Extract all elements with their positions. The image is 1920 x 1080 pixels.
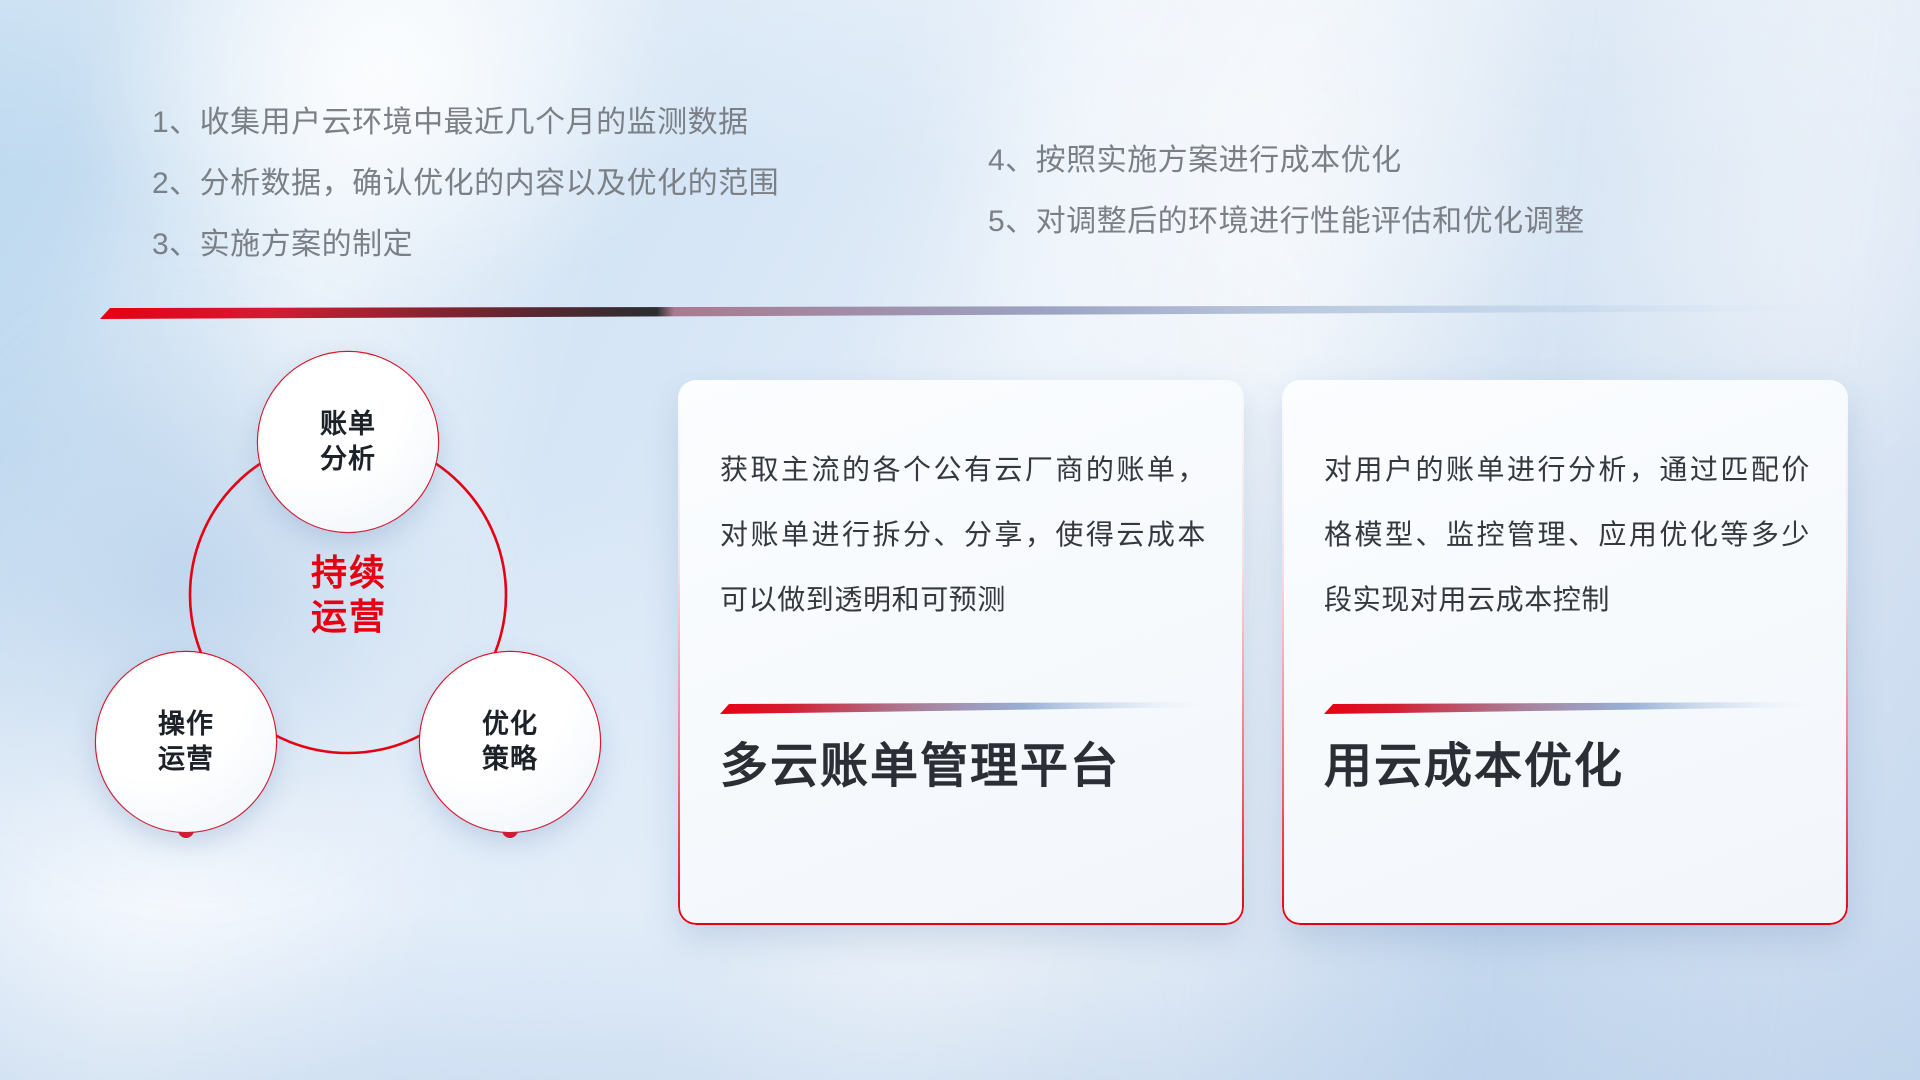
process-steps: 1、收集用户云环境中最近几个月的监测数据 2、分析数据，确认优化的内容以及优化的… (0, 108, 1920, 298)
venn-center-label-line2: 运营 (311, 595, 387, 639)
venn-bubble-label-line2: 分析 (320, 442, 376, 477)
slide-canvas: 1、收集用户云环境中最近几个月的监测数据 2、分析数据，确认优化的内容以及优化的… (0, 0, 1920, 1080)
feature-card-cloud-cost-optimization[interactable]: 对用户的账单进行分析，通过匹配价格模型、监控管理、应用优化等多少段实现对用云成本… (1282, 380, 1848, 925)
card-title: 多云账单管理平台 (720, 738, 1210, 796)
process-step-item: 5、对调整后的环境进行性能评估和优化调整 (988, 207, 1585, 237)
venn-center-label-line1: 持续 (311, 551, 387, 595)
process-step-item: 1、收集用户云环境中最近几个月的监测数据 (152, 108, 779, 138)
venn-bubble-label-line2: 运营 (158, 742, 214, 777)
venn-bubble-label-line1: 优化 (482, 707, 538, 742)
venn-bubble-label-line1: 账单 (320, 407, 376, 442)
card-title: 用云成本优化 (1324, 738, 1814, 796)
process-steps-left-column: 1、收集用户云环境中最近几个月的监测数据 2、分析数据，确认优化的内容以及优化的… (152, 108, 779, 291)
process-steps-right-column: 4、按照实施方案进行成本优化 5、对调整后的环境进行性能评估和优化调整 (988, 146, 1585, 268)
venn-bubble-label-line1: 操作 (158, 707, 214, 742)
card-divider (720, 702, 1210, 716)
venn-bubble-optimization-strategy[interactable]: 优化 策略 (420, 652, 600, 832)
process-step-item: 4、按照实施方案进行成本优化 (988, 146, 1585, 176)
card-description: 对用户的账单进行分析，通过匹配价格模型、监控管理、应用优化等多少段实现对用云成本… (1324, 438, 1810, 633)
venn-bubble-label-line2: 策略 (482, 742, 538, 777)
process-step-item: 3、实施方案的制定 (152, 230, 779, 260)
card-description: 获取主流的各个公有云厂商的账单，对账单进行拆分、分享，使得云成本可以做到透明和可… (720, 438, 1206, 633)
continuous-operation-venn-diagram: 账单 分析 操作 运营 优化 策略 持续 运营 (96, 352, 636, 912)
venn-center-label: 持续 运营 (264, 530, 434, 660)
process-step-item: 2、分析数据，确认优化的内容以及优化的范围 (152, 169, 779, 199)
venn-bubble-billing-analysis[interactable]: 账单 分析 (258, 352, 438, 532)
card-divider (1324, 702, 1814, 716)
feature-card-multicloud-billing[interactable]: 获取主流的各个公有云厂商的账单，对账单进行拆分、分享，使得云成本可以做到透明和可… (678, 380, 1244, 925)
venn-bubble-operations[interactable]: 操作 运营 (96, 652, 276, 832)
header-divider (100, 305, 1840, 321)
